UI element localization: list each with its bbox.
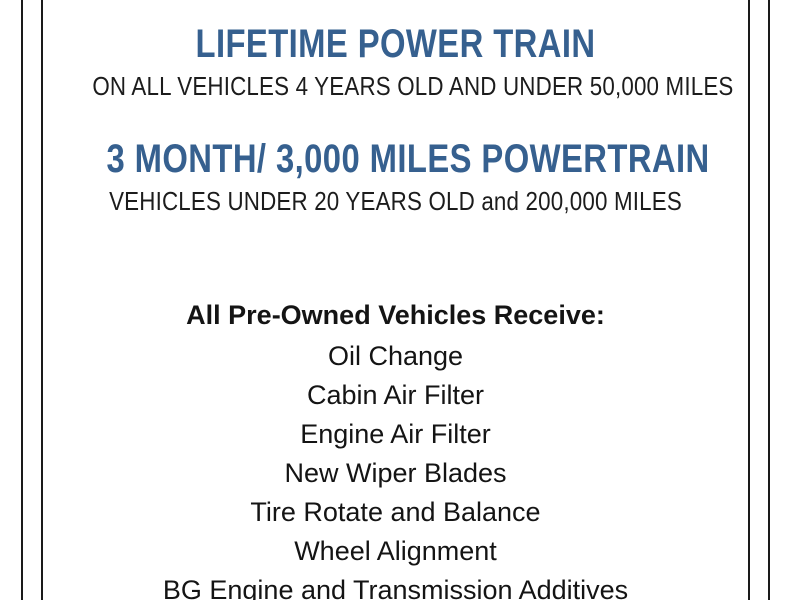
frame-rule-right-outer: [768, 0, 770, 600]
frame-rule-left-outer: [21, 0, 23, 600]
list-item: Cabin Air Filter: [43, 376, 748, 415]
warranty-headline: 3 MONTH/ 3,000 MILES POWERTRAIN: [106, 137, 684, 181]
list-item: BG Engine and Transmission Additives: [43, 571, 748, 600]
warranty-flyer: LIFETIME POWER TRAIN ON ALL VEHICLES 4 Y…: [0, 0, 800, 600]
list-item: Oil Change: [43, 337, 748, 376]
frame-rule-right-inner: [748, 0, 750, 600]
warranty-headline: LIFETIME POWER TRAIN: [106, 22, 684, 66]
warranty-offer-three-month: 3 MONTH/ 3,000 MILES POWERTRAIN VEHICLES…: [43, 137, 748, 215]
services-list: Oil Change Cabin Air Filter Engine Air F…: [43, 337, 748, 600]
flyer-content: LIFETIME POWER TRAIN ON ALL VEHICLES 4 Y…: [43, 0, 748, 600]
list-item: New Wiper Blades: [43, 454, 748, 493]
list-item: Wheel Alignment: [43, 532, 748, 571]
list-item: Engine Air Filter: [43, 415, 748, 454]
warranty-subhead: ON ALL VEHICLES 4 YEARS OLD AND UNDER 50…: [92, 66, 698, 100]
services-title: All Pre-Owned Vehicles Receive:: [43, 298, 748, 332]
services-section: All Pre-Owned Vehicles Receive: Oil Chan…: [43, 298, 748, 600]
warranty-subhead: VEHICLES UNDER 20 YEARS OLD and 200,000 …: [92, 181, 698, 215]
warranty-offer-lifetime: LIFETIME POWER TRAIN ON ALL VEHICLES 4 Y…: [43, 22, 748, 100]
list-item: Tire Rotate and Balance: [43, 493, 748, 532]
